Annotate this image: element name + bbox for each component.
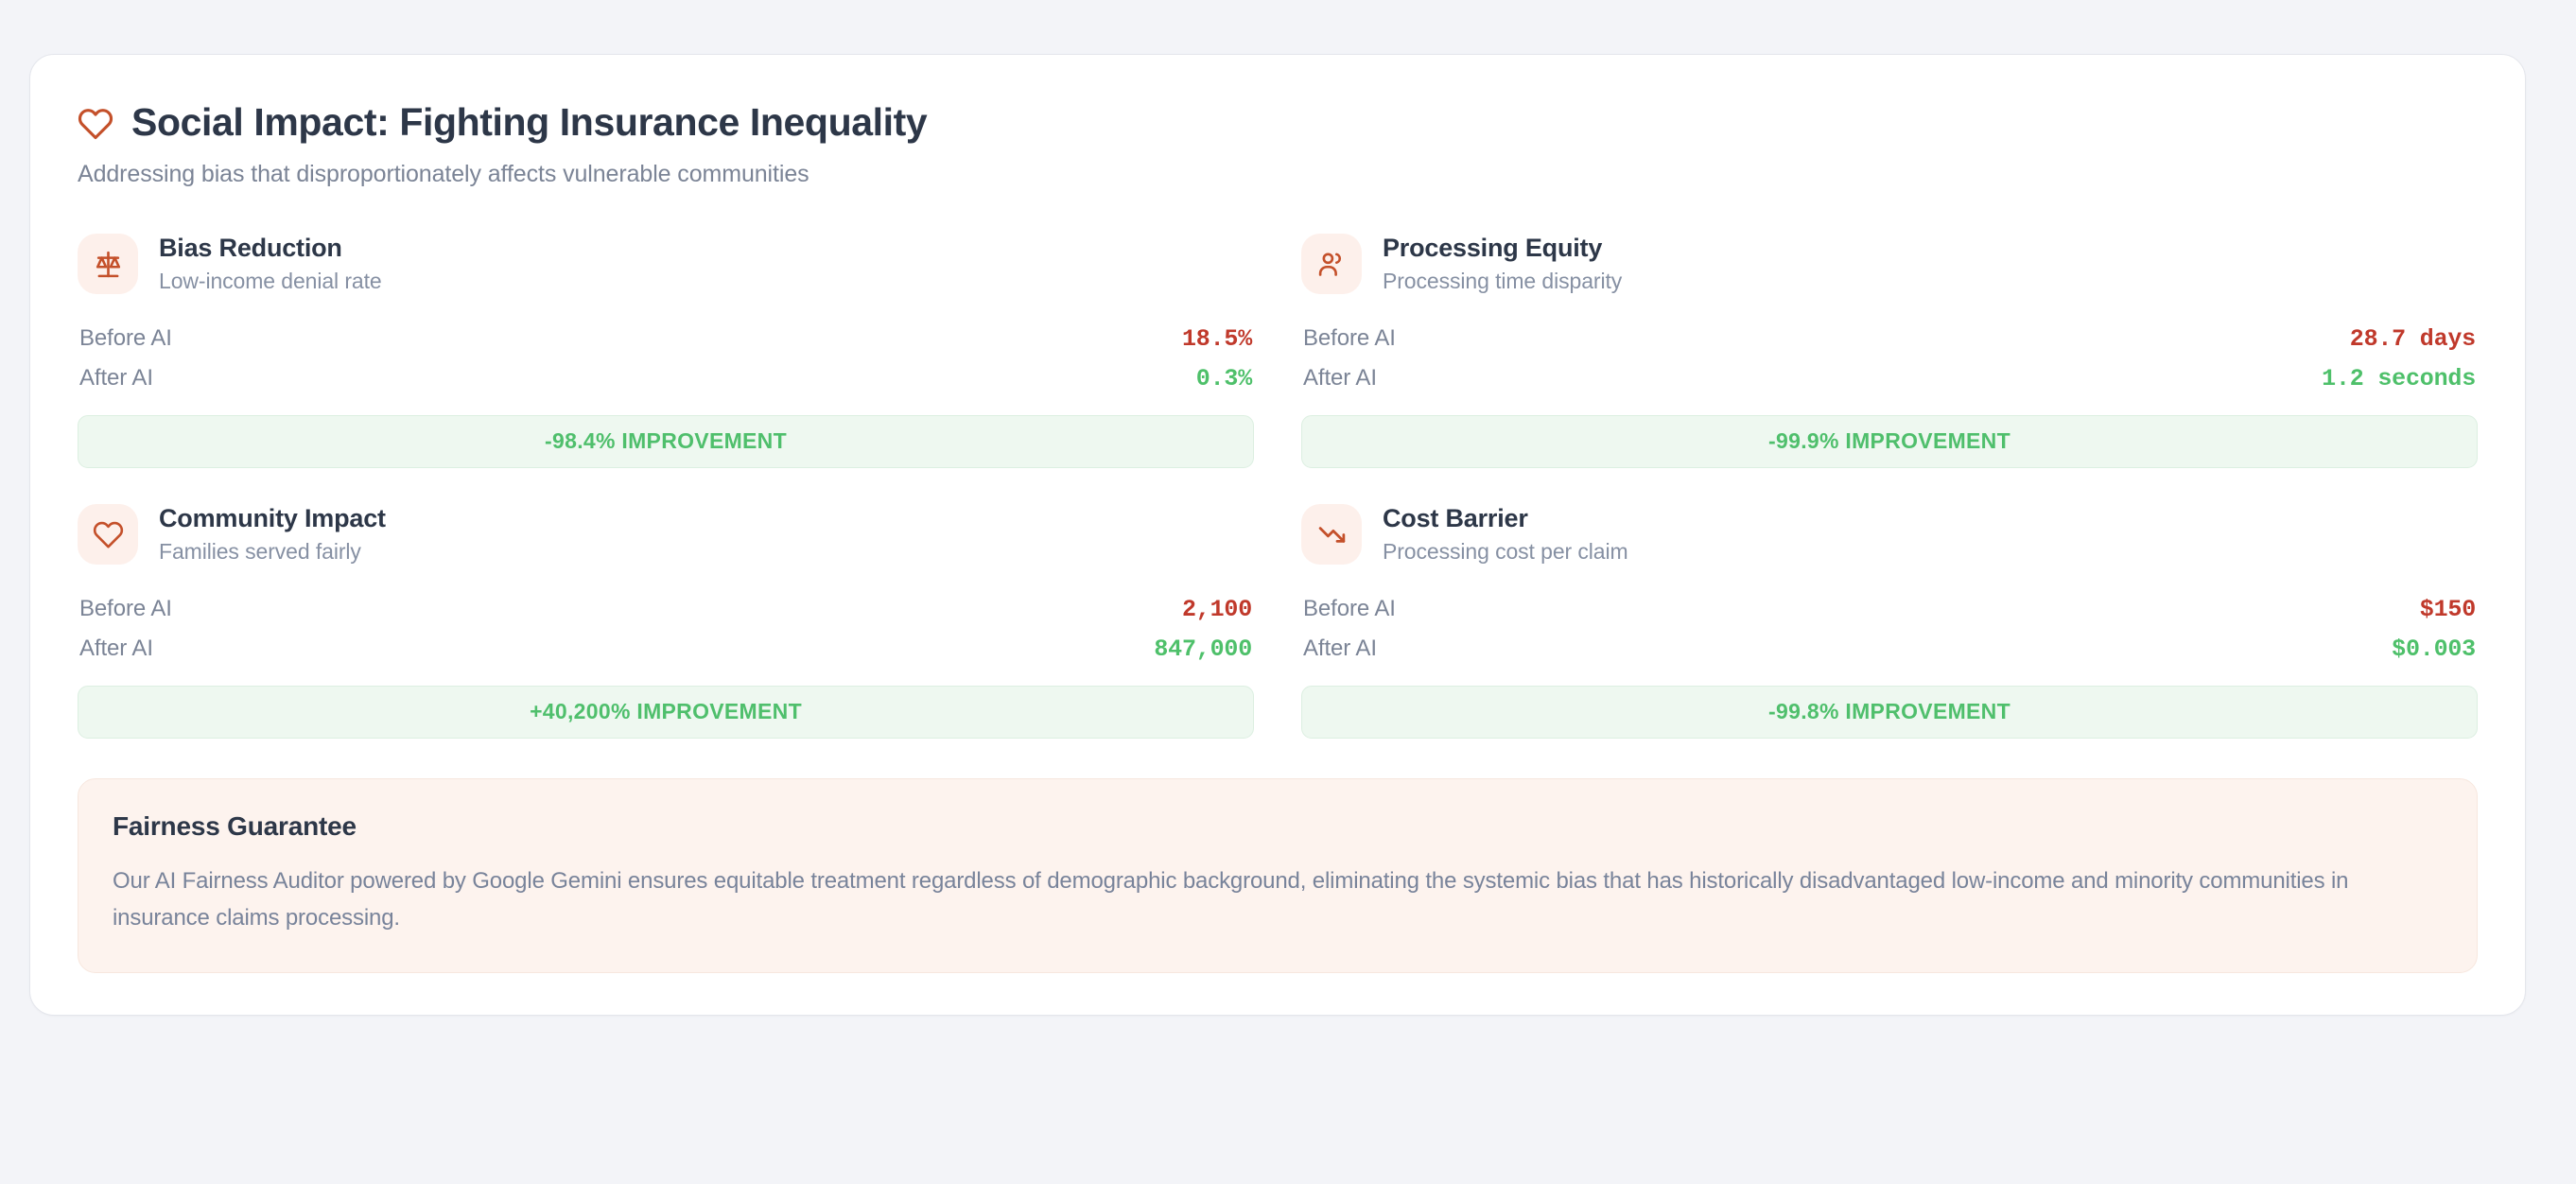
metric-header-text: Processing Equity Processing time dispar…: [1383, 235, 1622, 293]
improvement-badge: -98.4% IMPROVEMENT: [78, 415, 1254, 468]
metric-label: Bias Reduction: [159, 235, 382, 263]
title-row: Social Impact: Fighting Insurance Inequa…: [78, 100, 2478, 145]
metric-value-before: $150: [2420, 596, 2476, 623]
improvement-text: -99.8% IMPROVEMENT: [1768, 699, 2010, 723]
metric-row-after: After AI 1.2 seconds: [1301, 359, 2478, 399]
metric-header-text: Cost Barrier Processing cost per claim: [1383, 505, 1628, 564]
metric-value-before: 2,100: [1182, 596, 1252, 623]
improvement-text: -98.4% IMPROVEMENT: [545, 428, 787, 453]
improvement-badge: -99.8% IMPROVEMENT: [1301, 686, 2478, 739]
heart-icon: [78, 504, 138, 565]
heart-icon: [78, 106, 113, 142]
fairness-guarantee-panel: Fairness Guarantee Our AI Fairness Audit…: [78, 778, 2478, 973]
metric-header-text: Community Impact Families served fairly: [159, 505, 386, 564]
metric-description: Processing cost per claim: [1383, 540, 1628, 564]
metric-value-after: $0.003: [2392, 636, 2476, 663]
improvement-text: -99.9% IMPROVEMENT: [1768, 428, 2010, 453]
metric-row-label: After AI: [79, 636, 153, 662]
panel-header: Social Impact: Fighting Insurance Inequa…: [78, 100, 2478, 188]
metrics-grid: Bias Reduction Low-income denial rate Be…: [78, 228, 2478, 739]
metric-label: Processing Equity: [1383, 235, 1622, 263]
metric-row-before: Before AI 2,100: [78, 590, 1254, 630]
metric-row-after: After AI $0.003: [1301, 630, 2478, 670]
users-icon: [1301, 234, 1362, 294]
metric-header: Community Impact Families served fairly: [78, 504, 1254, 565]
social-impact-panel: Social Impact: Fighting Insurance Inequa…: [29, 54, 2526, 1016]
metric-row-label: After AI: [1303, 636, 1377, 662]
metric-row-after: After AI 0.3%: [78, 359, 1254, 399]
metric-row-after: After AI 847,000: [78, 630, 1254, 670]
metric-row-label: After AI: [79, 365, 153, 392]
metric-value-after: 0.3%: [1196, 365, 1252, 392]
metric-card-cost-barrier: Cost Barrier Processing cost per claim B…: [1301, 498, 2478, 739]
metric-card-processing-equity: Processing Equity Processing time dispar…: [1301, 228, 2478, 468]
metric-row-label: Before AI: [1303, 325, 1396, 352]
metric-row-before: Before AI 18.5%: [78, 320, 1254, 359]
fairness-title: Fairness Guarantee: [113, 811, 2443, 842]
metric-value-before: 28.7 days: [2350, 325, 2476, 353]
page-root: Social Impact: Fighting Insurance Inequa…: [0, 0, 2576, 1184]
metric-description: Families served fairly: [159, 540, 386, 564]
metric-label: Community Impact: [159, 505, 386, 533]
metric-row-label: Before AI: [1303, 596, 1396, 622]
metric-row-label: After AI: [1303, 365, 1377, 392]
metric-value-after: 847,000: [1154, 636, 1252, 663]
metric-card-community-impact: Community Impact Families served fairly …: [78, 498, 1254, 739]
metric-value-before: 18.5%: [1182, 325, 1252, 353]
metric-label: Cost Barrier: [1383, 505, 1628, 533]
metric-header: Cost Barrier Processing cost per claim: [1301, 504, 2478, 565]
metric-row-before: Before AI $150: [1301, 590, 2478, 630]
scales-balance-icon: [78, 234, 138, 294]
metric-description: Processing time disparity: [1383, 270, 1622, 293]
metric-description: Low-income denial rate: [159, 270, 382, 293]
metric-header: Processing Equity Processing time dispar…: [1301, 234, 2478, 294]
metric-row-label: Before AI: [79, 596, 172, 622]
metric-header: Bias Reduction Low-income denial rate: [78, 234, 1254, 294]
fairness-body: Our AI Fairness Auditor powered by Googl…: [113, 863, 2411, 937]
page-subtitle: Addressing bias that disproportionately …: [78, 161, 2478, 188]
metric-value-after: 1.2 seconds: [2322, 365, 2476, 392]
metric-row-label: Before AI: [79, 325, 172, 352]
metric-row-before: Before AI 28.7 days: [1301, 320, 2478, 359]
metric-card-bias-reduction: Bias Reduction Low-income denial rate Be…: [78, 228, 1254, 468]
improvement-badge: +40,200% IMPROVEMENT: [78, 686, 1254, 739]
trending-down-icon: [1301, 504, 1362, 565]
page-title: Social Impact: Fighting Insurance Inequa…: [131, 100, 927, 145]
improvement-badge: -99.9% IMPROVEMENT: [1301, 415, 2478, 468]
improvement-text: +40,200% IMPROVEMENT: [530, 699, 802, 723]
metric-header-text: Bias Reduction Low-income denial rate: [159, 235, 382, 293]
